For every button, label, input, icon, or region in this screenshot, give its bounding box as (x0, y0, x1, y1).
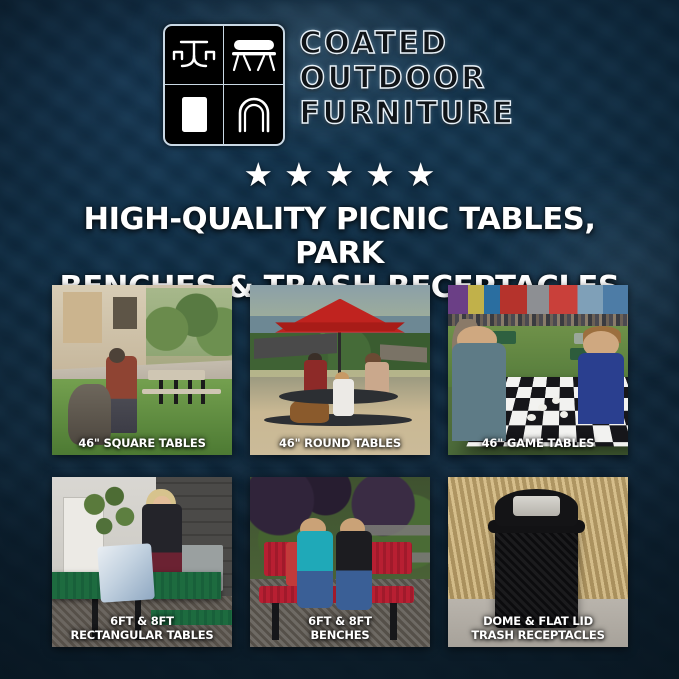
star-rating: ★ ★ ★ ★ ★ (0, 158, 679, 191)
brand-logo: COATED OUTDOOR FURNITURE (0, 24, 679, 146)
arch-shelter-icon (224, 85, 283, 144)
logo-icon-grid (163, 24, 285, 146)
square-table-photo (52, 285, 232, 455)
tile-caption: 46" GAME TABLES (448, 437, 628, 451)
tile-caption-line-1: 46" ROUND TABLES (279, 436, 401, 450)
picnic-table-icon (165, 26, 224, 85)
tile-caption-line-2: RECTANGULAR TABLES (56, 629, 228, 643)
brand-wordmark: COATED OUTDOOR FURNITURE (299, 24, 515, 131)
infographic-banner: COATED OUTDOOR FURNITURE ★ ★ ★ ★ ★ HIGH-… (0, 0, 679, 679)
tile-caption-line-2: TRASH RECEPTACLES (452, 629, 624, 643)
product-tile-rectangular-tables[interactable]: 6FT & 8FT RECTANGULAR TABLES (52, 477, 232, 647)
tile-caption-line-2: BENCHES (254, 629, 426, 643)
trash-receptacle-icon (165, 85, 224, 144)
tile-caption-line-1: 6FT & 8FT (110, 614, 174, 628)
tile-caption-line-1: 6FT & 8FT (308, 614, 372, 628)
brand-name-line-3: FURNITURE (299, 96, 515, 131)
product-tile-square-tables[interactable]: 46" SQUARE TABLES (52, 285, 232, 455)
tile-caption: 6FT & 8FT BENCHES (250, 615, 430, 642)
headline-line-1: HIGH-QUALITY PICNIC TABLES, PARK (83, 202, 595, 271)
star-icon: ★ (284, 158, 314, 191)
tile-caption-line-1: 46" GAME TABLES (482, 436, 595, 450)
tile-caption: 46" SQUARE TABLES (52, 437, 232, 451)
game-table-photo (448, 285, 628, 455)
star-icon: ★ (365, 158, 395, 191)
park-bench-icon (224, 26, 283, 85)
brand-name-line-2: OUTDOOR (299, 61, 515, 96)
star-icon: ★ (325, 158, 355, 191)
product-tile-trash-receptacles[interactable]: DOME & FLAT LID TRASH RECEPTACLES (448, 477, 628, 647)
star-icon: ★ (406, 158, 436, 191)
tile-caption-line-1: DOME & FLAT LID (483, 614, 593, 628)
product-tile-round-tables[interactable]: 46" ROUND TABLES (250, 285, 430, 455)
tile-caption-line-1: 46" SQUARE TABLES (78, 436, 205, 450)
brand-name-line-1: COATED (299, 26, 515, 61)
tile-caption: 46" ROUND TABLES (250, 437, 430, 451)
star-icon: ★ (244, 158, 274, 191)
product-tile-benches[interactable]: 6FT & 8FT BENCHES (250, 477, 430, 647)
product-tile-game-tables[interactable]: 46" GAME TABLES (448, 285, 628, 455)
tile-caption: 6FT & 8FT RECTANGULAR TABLES (52, 615, 232, 642)
product-tile-grid: 46" SQUARE TABLES 46" ROUND TABLES (52, 285, 628, 647)
round-table-photo (250, 285, 430, 455)
tile-caption: DOME & FLAT LID TRASH RECEPTACLES (448, 615, 628, 642)
